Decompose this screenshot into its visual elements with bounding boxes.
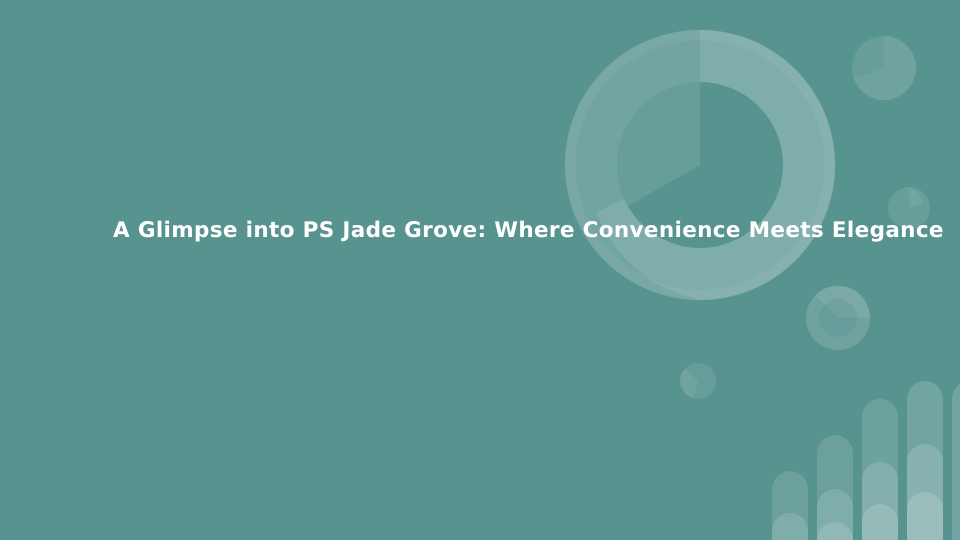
title-block: A Glimpse into PS Jade Grove: Where Conv… (113, 216, 913, 246)
background-bar-chart (772, 381, 960, 540)
large-donut-chart (560, 22, 867, 305)
donut-wedge-segment (815, 285, 870, 318)
donut-wedge-segment (596, 22, 867, 302)
decorative-chart-graphics (0, 0, 960, 540)
bar-chart-bar-1 (772, 471, 808, 540)
bottom-center-pie-chart (680, 363, 716, 399)
top-right-pie-chart (852, 36, 916, 100)
pie-wedge-segment (909, 187, 923, 208)
donut-ring-base (560, 22, 867, 305)
pie-base-circle (680, 363, 716, 399)
bar-chart-bar-2 (817, 435, 853, 540)
page-title: A Glimpse into PS Jade Grove: Where Conv… (113, 216, 913, 246)
bar-chart-bar-3 (862, 399, 898, 540)
donut-inner-wedge (617, 82, 700, 206)
bar-chart-bar-5 (952, 381, 960, 540)
pie-wedge-segment (854, 36, 916, 100)
presentation-slide: A Glimpse into PS Jade Grove: Where Conv… (0, 0, 960, 540)
bar-chart-bar-4 (907, 381, 943, 540)
lower-right-donut-chart (800, 280, 880, 360)
donut-base-circle (806, 286, 870, 350)
pie-base-circle (852, 36, 916, 100)
donut-ring (800, 280, 880, 360)
pie-wedge-segment (680, 368, 698, 398)
donut-outer-halo-ring (570, 35, 830, 295)
